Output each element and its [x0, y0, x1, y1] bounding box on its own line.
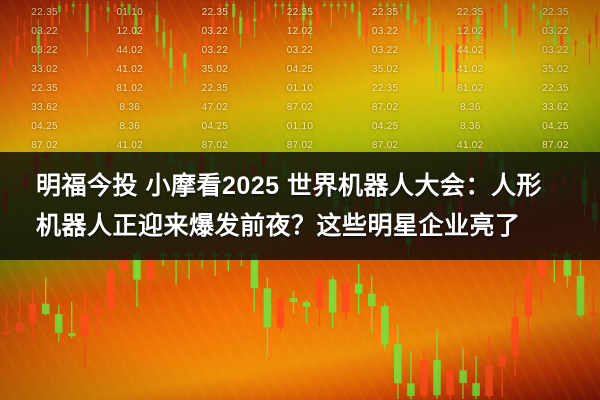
news-thumbnail-image: 22.3501.1022.3522.3522.3522.3522.3503.22… [0, 0, 600, 400]
headline-line-2: 机器人正迎来爆发前夜？这些明星企业亮了 [36, 206, 572, 246]
lower-candlestick-chart [0, 250, 600, 400]
headline-text: 明福今投 小摩看2025 世界机器人大会：人形 机器人正迎来爆发前夜？这些明星企… [0, 152, 600, 260]
upper-candlestick-chart [0, 0, 600, 150]
headline-line-1: 明福今投 小摩看2025 世界机器人大会：人形 [36, 166, 572, 206]
